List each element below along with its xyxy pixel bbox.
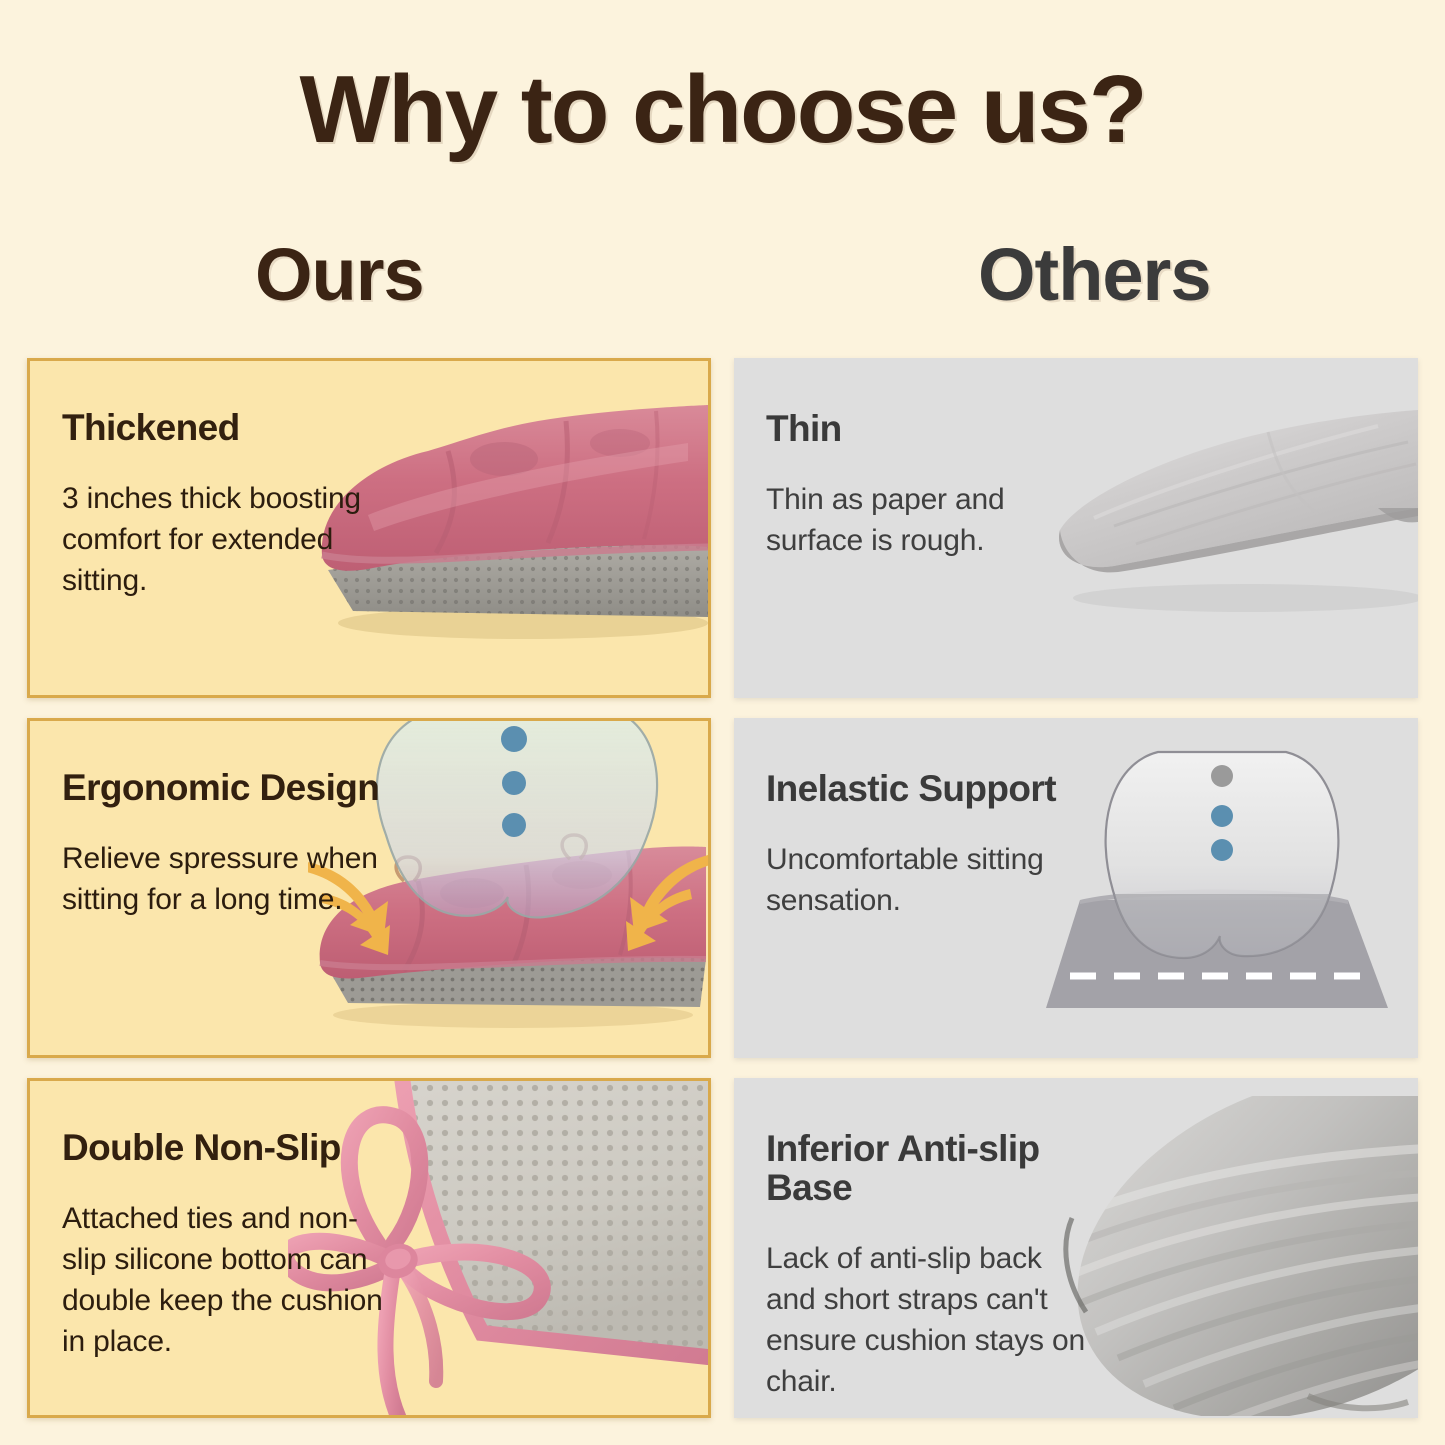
card-text-block: Inferior Anti-slip Base Lack of anti-sli… xyxy=(766,1130,1096,1402)
card-title: Inferior Anti-slip Base xyxy=(766,1130,1096,1208)
card-text-block: Double Non-Slip Attached ties and non-sl… xyxy=(62,1129,402,1362)
others-card-thin: Thin Thin as paper and surface is rough. xyxy=(734,358,1418,698)
card-title: Double Non-Slip xyxy=(62,1129,402,1168)
card-title: Inelastic Support xyxy=(766,770,1096,809)
card-text-block: Thin Thin as paper and surface is rough. xyxy=(766,410,1096,561)
card-description: Uncomfortable sitting sensation. xyxy=(766,839,1096,921)
card-text-block: Inelastic Support Uncomfortable sitting … xyxy=(766,770,1096,921)
card-title: Thin xyxy=(766,410,1096,449)
card-text-block: Thickened 3 inches thick boosting comfor… xyxy=(62,409,402,601)
card-description: Relieve spressure when sitting for a lon… xyxy=(62,838,402,920)
card-description: Thin as paper and surface is rough. xyxy=(766,479,1096,561)
others-card-inferior-anti-slip-base: Inferior Anti-slip Base Lack of anti-sli… xyxy=(734,1078,1418,1418)
card-text-block: Ergonomic Design Relieve spressure when … xyxy=(62,769,402,920)
comparison-grid: Thickened 3 inches thick boosting comfor… xyxy=(27,358,1418,1418)
card-title: Ergonomic Design xyxy=(62,769,402,808)
ours-card-ergonomic-design: Ergonomic Design Relieve spressure when … xyxy=(27,718,711,1058)
others-card-inelastic-support: Inelastic Support Uncomfortable sitting … xyxy=(734,718,1418,1058)
ours-card-thickened: Thickened 3 inches thick boosting comfor… xyxy=(27,358,711,698)
ours-card-double-non-slip: Double Non-Slip Attached ties and non-sl… xyxy=(27,1078,711,1418)
page-title: Why to choose us? xyxy=(0,62,1445,158)
card-title: Thickened xyxy=(62,409,402,448)
card-description: Attached ties and non-slip silicone bott… xyxy=(62,1198,402,1362)
card-description: 3 inches thick boosting comfort for exte… xyxy=(62,478,402,601)
column-label-ours: Ours xyxy=(255,238,424,312)
card-description: Lack of anti-slip back and short straps … xyxy=(766,1238,1096,1402)
column-label-others: Others xyxy=(978,238,1211,312)
